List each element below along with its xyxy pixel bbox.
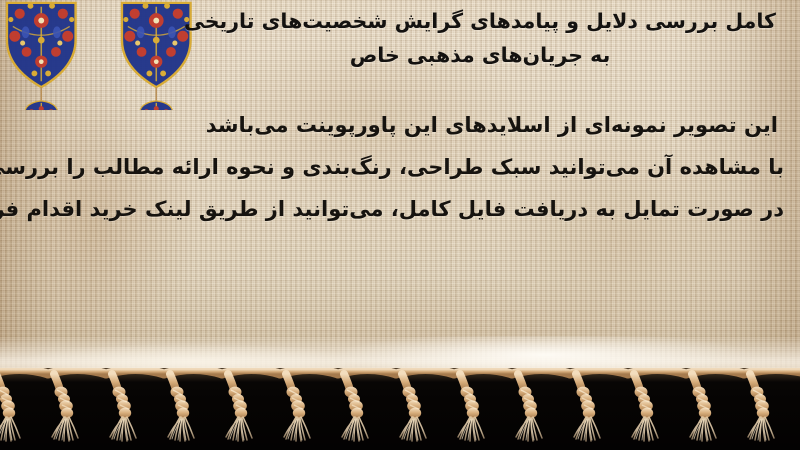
slide-title: کامل بررسی دلایل و پیامدهای گرایش شخصیت‌… <box>180 4 780 72</box>
slide-canvas: کامل بررسی دلایل و پیامدهای گرایش شخصیت‌… <box>0 0 800 450</box>
body-line-1: این تصویر نمونه‌ای از اسلایدهای این پاور… <box>8 104 792 146</box>
text-layer: کامل بررسی دلایل و پیامدهای گرایش شخصیت‌… <box>0 0 800 392</box>
body-line-2: با مشاهده آن می‌توانید سبک طراحی، رنگ‌بن… <box>8 146 792 188</box>
title-line-2: به جریان‌های مذهبی خاص <box>180 38 780 72</box>
body-line-3: در صورت تمایل به دریافت فایل کامل، می‌تو… <box>8 188 792 230</box>
slide-body: این تصویر نمونه‌ای از اسلایدهای این پاور… <box>8 104 792 230</box>
title-line-1: کامل بررسی دلایل و پیامدهای گرایش شخصیت‌… <box>180 4 780 38</box>
fringe-band-background <box>0 368 800 450</box>
